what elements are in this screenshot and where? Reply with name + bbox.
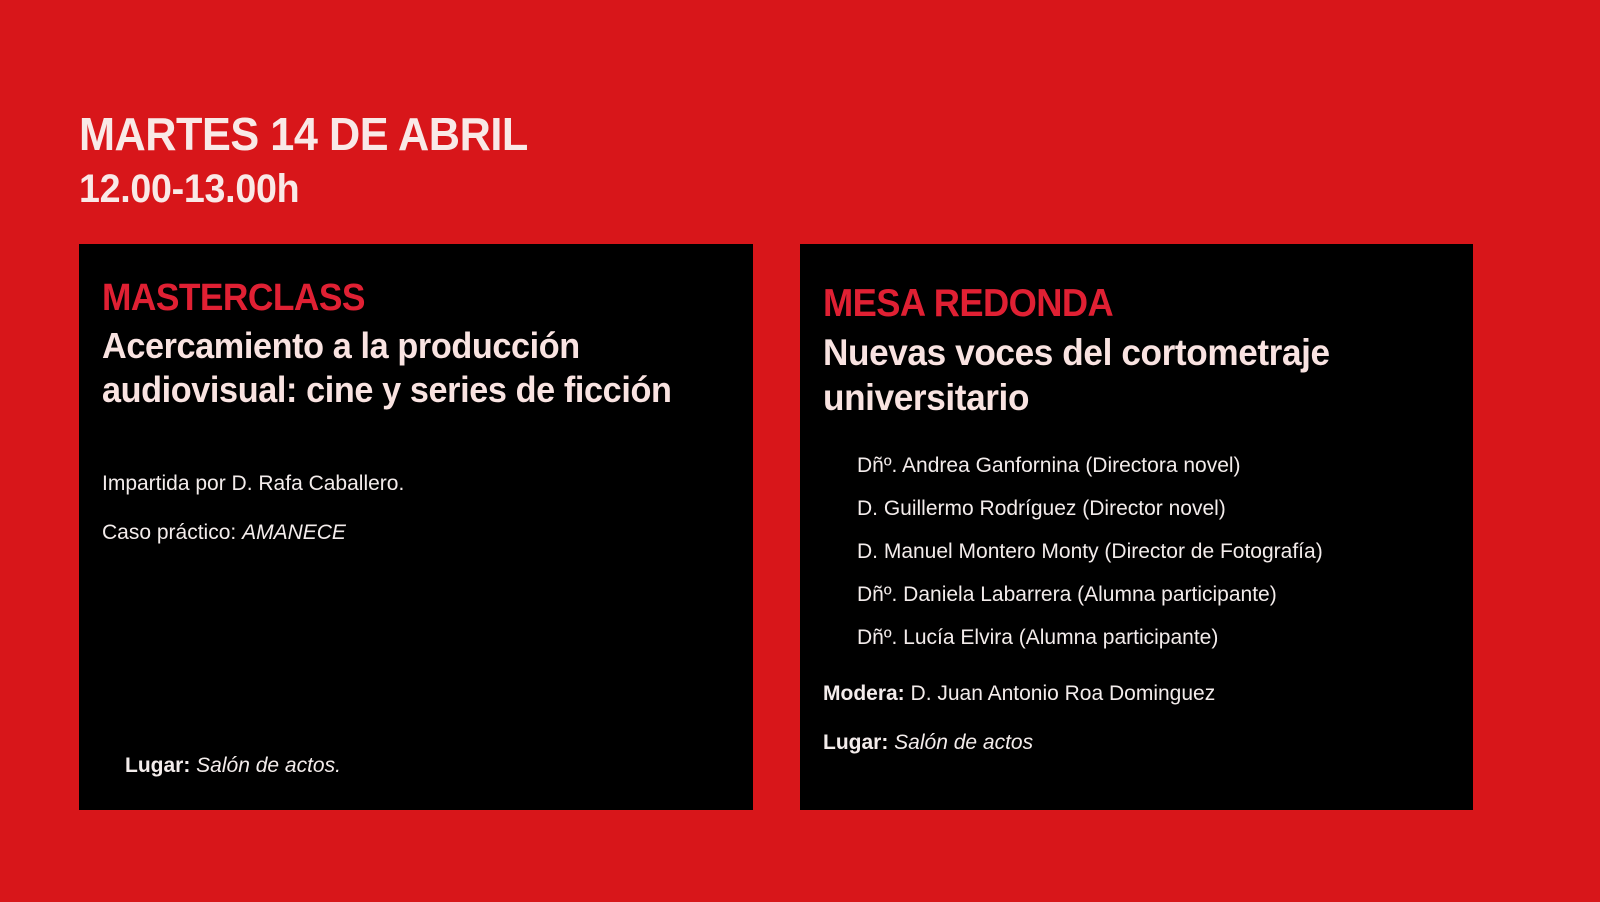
event-header: MARTES 14 DE ABRIL 12.00-13.00h: [79, 108, 979, 214]
session-title: Nuevas voces del cortometraje universita…: [823, 330, 1412, 420]
card-content-masterclass: MASTERCLASS Acercamiento a la producción…: [102, 276, 723, 810]
moderator-label: Modera:: [823, 682, 905, 705]
poster-canvas: MARTES 14 DE ABRIL 12.00-13.00h MASTERCL…: [0, 0, 1600, 902]
venue-label: Lugar:: [125, 754, 190, 777]
session-case-line: Caso práctico: AMANECE: [102, 519, 723, 547]
session-title: Acercamiento a la producción audiovisual…: [102, 324, 692, 412]
case-title: AMANECE: [242, 521, 346, 544]
list-item: Dñº. Andrea Ganfornina (Directora novel): [857, 444, 1443, 487]
list-item: Dñº. Lucía Elvira (Alumna participante): [857, 616, 1443, 659]
session-moderator: Modera: D. Juan Antonio Roa Dominguez: [823, 680, 1443, 708]
session-details-masterclass: Impartida por D. Rafa Caballero. Caso pr…: [102, 470, 723, 547]
details-spacer: [102, 498, 723, 519]
card-content-mesa-redonda: MESA REDONDA Nuevas voces del cortometra…: [823, 282, 1443, 810]
event-date: MARTES 14 DE ABRIL: [79, 108, 925, 160]
list-item: D. Guillermo Rodríguez (Director novel): [857, 487, 1443, 530]
session-venue-mesa-redonda: Lugar: Salón de actos: [823, 729, 1443, 757]
venue-value: Salón de actos: [894, 731, 1033, 754]
session-venue-masterclass: Lugar: Salón de actos.: [125, 752, 341, 780]
moderator-value: D. Juan Antonio Roa Dominguez: [911, 682, 1216, 705]
case-label: Caso práctico:: [102, 521, 242, 544]
session-card-mesa-redonda: MESA REDONDA Nuevas voces del cortometra…: [800, 244, 1473, 810]
list-item: Dñº. Daniela Labarrera (Alumna participa…: [857, 573, 1443, 616]
session-type-label: MESA REDONDA: [823, 282, 1400, 326]
list-item: D. Manuel Montero Monty (Director de Fot…: [857, 530, 1443, 573]
session-type-label: MASTERCLASS: [102, 276, 680, 320]
session-speaker-line: Impartida por D. Rafa Caballero.: [102, 470, 723, 498]
venue-value: Salón de actos.: [196, 754, 341, 777]
event-time: 12.00-13.00h: [79, 164, 925, 214]
venue-label: Lugar:: [823, 731, 888, 754]
speaker-list: Dñº. Andrea Ganfornina (Directora novel)…: [823, 444, 1443, 659]
session-card-masterclass: MASTERCLASS Acercamiento a la producción…: [79, 244, 753, 810]
